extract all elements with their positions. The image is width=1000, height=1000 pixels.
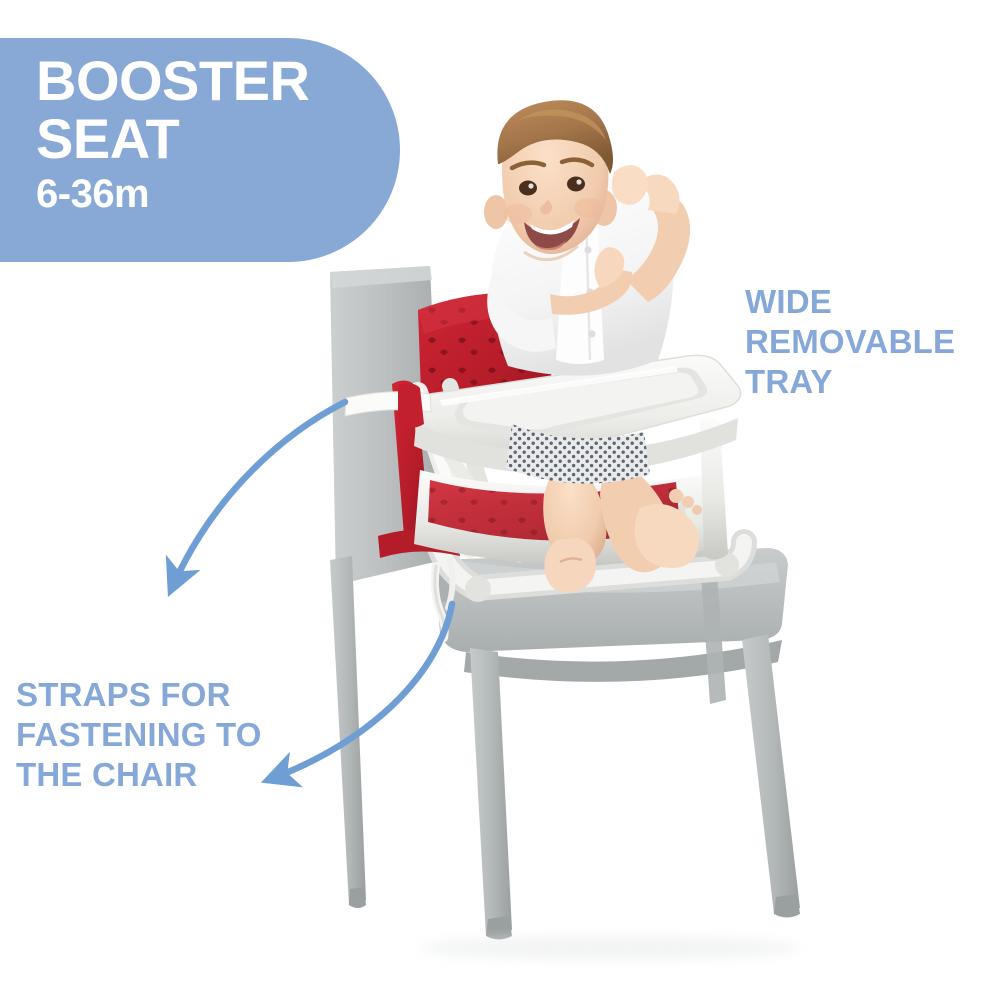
booster-seat-badge: BOOSTER SEAT 6-36m: [0, 38, 400, 262]
callout-straps-line-2: FASTENING TO: [16, 715, 306, 755]
callout-straps-line-3: THE CHAIR: [16, 755, 306, 795]
callout-straps-for-fastening: STRAPS FOR FASTENING TO THE CHAIR: [16, 675, 306, 795]
callout-tray-line-2: REMOVABLE: [745, 322, 995, 362]
callout-straps-line-1: STRAPS FOR: [16, 675, 306, 715]
chair-front-right-leg: [742, 634, 800, 914]
callout-tray-line-3: TRAY: [745, 362, 995, 402]
badge-line-2: SEAT: [36, 110, 400, 168]
baby-left-foot: [544, 538, 596, 593]
callout-wide-removable-tray: WIDE REMOVABLE TRAY: [745, 282, 995, 402]
strap-red-buckle: [398, 383, 424, 428]
infographic-canvas: BOOSTER SEAT 6-36m WIDE REMOVABLE TRAY S…: [0, 0, 1000, 1000]
badge-age-range: 6-36m: [36, 168, 400, 220]
callout-tray-line-1: WIDE: [745, 282, 995, 322]
chair-front-left-leg: [470, 648, 512, 936]
chair-rear-left-leg: [330, 556, 366, 905]
badge-line-1: BOOSTER: [36, 52, 400, 110]
